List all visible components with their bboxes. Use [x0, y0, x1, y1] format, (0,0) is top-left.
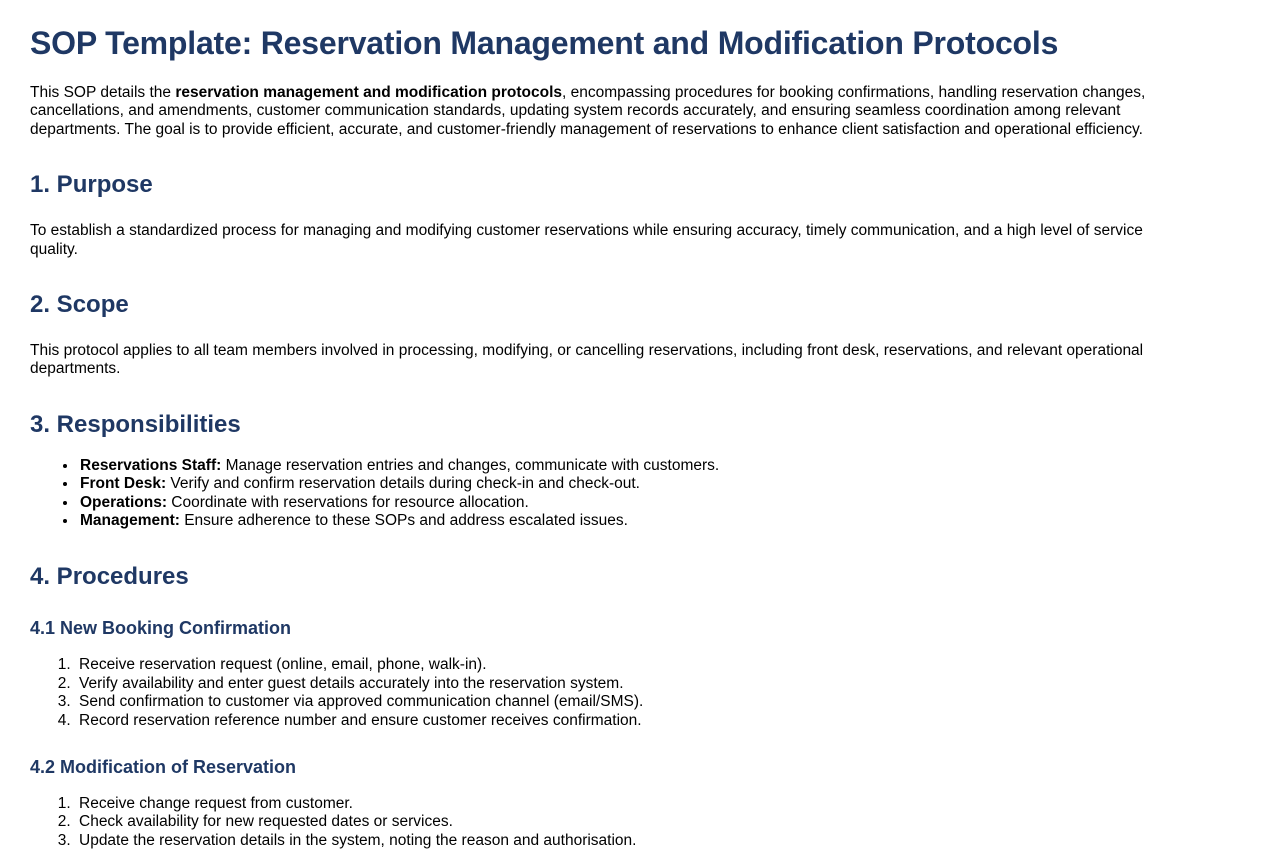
list-item: Update the reservation details in the sy…	[75, 832, 1233, 850]
list-item: Check availability for new requested dat…	[75, 813, 1233, 832]
list-item: Front Desk: Verify and confirm reservati…	[78, 475, 1233, 494]
scope-paragraph: This protocol applies to all team member…	[30, 342, 1185, 379]
intro-lead: This SOP details the	[30, 84, 175, 101]
document-page: SOP Template: Reservation Management and…	[0, 25, 1263, 850]
responsibility-detail: Ensure adherence to these SOPs and addre…	[180, 512, 628, 529]
responsibility-role: Reservations Staff:	[80, 457, 221, 474]
intro-paragraph: This SOP details the reservation managem…	[30, 84, 1185, 140]
list-item: Reservations Staff: Manage reservation e…	[78, 457, 1233, 476]
section-heading-purpose: 1. Purpose	[30, 171, 1233, 200]
subsection-heading-modification-of-reservation: 4.2 Modification of Reservation	[30, 757, 1233, 779]
responsibilities-list: Reservations Staff: Manage reservation e…	[30, 457, 1233, 531]
list-item: Operations: Coordinate with reservations…	[78, 494, 1233, 513]
responsibility-detail: Verify and confirm reservation details d…	[166, 475, 640, 492]
responsibility-role: Management:	[80, 512, 180, 529]
new-booking-steps-list: Receive reservation request (online, ema…	[30, 656, 1233, 730]
responsibility-role: Operations:	[80, 494, 167, 511]
list-item: Verify availability and enter guest deta…	[75, 675, 1233, 694]
modification-steps-list: Receive change request from customer. Ch…	[30, 795, 1233, 850]
section-heading-responsibilities: 3. Responsibilities	[30, 411, 1233, 440]
page-title: SOP Template: Reservation Management and…	[30, 25, 1233, 62]
list-item: Management: Ensure adherence to these SO…	[78, 512, 1233, 531]
list-item: Receive change request from customer.	[75, 795, 1233, 814]
responsibility-detail: Coordinate with reservations for resourc…	[167, 494, 529, 511]
list-item: Record reservation reference number and …	[75, 712, 1233, 731]
responsibility-detail: Manage reservation entries and changes, …	[221, 457, 719, 474]
responsibility-role: Front Desk:	[80, 475, 166, 492]
purpose-paragraph: To establish a standardized process for …	[30, 222, 1185, 259]
list-item: Receive reservation request (online, ema…	[75, 656, 1233, 675]
list-item: Send confirmation to customer via approv…	[75, 693, 1233, 712]
section-heading-scope: 2. Scope	[30, 291, 1233, 320]
subsection-heading-new-booking-confirmation: 4.1 New Booking Confirmation	[30, 618, 1233, 640]
intro-emphasis: reservation management and modification …	[175, 84, 562, 101]
section-heading-procedures: 4. Procedures	[30, 563, 1233, 592]
